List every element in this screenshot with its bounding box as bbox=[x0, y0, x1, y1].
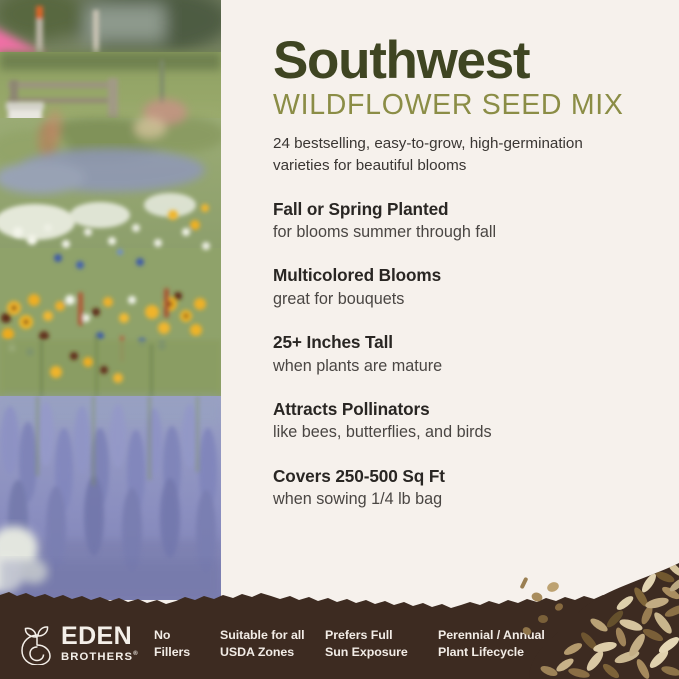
feature-heading: Covers 250-500 Sq Ft bbox=[273, 466, 645, 488]
feature-subtext: when sowing 1/4 lb bag bbox=[273, 489, 645, 509]
list-item: 25+ Inches Tall when plants are mature bbox=[273, 332, 645, 376]
list-item: Attracts Pollinators like bees, butterfl… bbox=[273, 399, 645, 443]
footer-feature-line2: USDA Zones bbox=[220, 644, 325, 661]
product-tagline: 24 bestselling, easy-to-grow, high-germi… bbox=[273, 133, 643, 176]
eden-brothers-logo[interactable]: EDEN BROTHERS® bbox=[19, 623, 145, 665]
logo-eden-text: EDEN bbox=[61, 624, 139, 649]
footer-feature-line1: Perennial / Annual bbox=[438, 627, 578, 644]
product-info-panel: Southwest WILDFLOWER SEED MIX 24 bestsel… bbox=[221, 0, 679, 600]
title-block: Southwest WILDFLOWER SEED MIX 24 bestsel… bbox=[273, 34, 645, 177]
footer-feature-line1: No bbox=[154, 627, 220, 644]
footer-feature-plant-lifecycle: Perennial / Annual Plant Lifecycle bbox=[438, 627, 578, 660]
feature-subtext: for blooms summer through fall bbox=[273, 222, 645, 242]
logo-wordmark: EDEN BROTHERS® bbox=[61, 624, 139, 663]
feature-heading: Attracts Pollinators bbox=[273, 399, 645, 421]
page-title: Southwest bbox=[273, 34, 645, 88]
footer-feature-line1: Prefers Full bbox=[325, 627, 438, 644]
list-item: Fall or Spring Planted for blooms summer… bbox=[273, 199, 645, 243]
feature-subtext: when plants are mature bbox=[273, 356, 645, 376]
wildflower-meadow-photo bbox=[0, 0, 221, 600]
footer-content-row: EDEN BROTHERS® No Fillers Suitable for a… bbox=[0, 608, 679, 679]
logo-brothers-text: BROTHERS® bbox=[61, 651, 139, 663]
feature-subtext: great for bouquets bbox=[273, 289, 645, 309]
feature-subtext: like bees, butterflies, and birds bbox=[273, 422, 645, 442]
product-listing-card: Southwest WILDFLOWER SEED MIX 24 bestsel… bbox=[0, 0, 679, 679]
list-item: Covers 250-500 Sq Ft when sowing 1/4 lb … bbox=[273, 466, 645, 510]
registered-trademark-icon: ® bbox=[133, 651, 139, 657]
footer-feature-usda-zones: Suitable for all USDA Zones bbox=[220, 627, 325, 660]
feature-list: Fall or Spring Planted for blooms summer… bbox=[273, 199, 645, 510]
feature-heading: Fall or Spring Planted bbox=[273, 199, 645, 221]
sprout-seed-icon bbox=[19, 623, 55, 665]
brand-footer-bar: EDEN BROTHERS® No Fillers Suitable for a… bbox=[0, 583, 679, 679]
footer-feature-line2: Plant Lifecycle bbox=[438, 644, 578, 661]
footer-feature-group: No Fillers Suitable for all USDA Zones P… bbox=[154, 627, 578, 660]
footer-feature-sun-exposure: Prefers Full Sun Exposure bbox=[325, 627, 438, 660]
list-item: Multicolored Blooms great for bouquets bbox=[273, 265, 645, 309]
footer-feature-no-fillers: No Fillers bbox=[154, 627, 220, 660]
footer-feature-line2: Fillers bbox=[154, 644, 220, 661]
feature-heading: Multicolored Blooms bbox=[273, 265, 645, 287]
product-subtitle: WILDFLOWER SEED MIX bbox=[273, 90, 645, 121]
footer-feature-line2: Sun Exposure bbox=[325, 644, 438, 661]
feature-heading: 25+ Inches Tall bbox=[273, 332, 645, 354]
meadow-illustration bbox=[0, 0, 221, 600]
footer-feature-line1: Suitable for all bbox=[220, 627, 325, 644]
